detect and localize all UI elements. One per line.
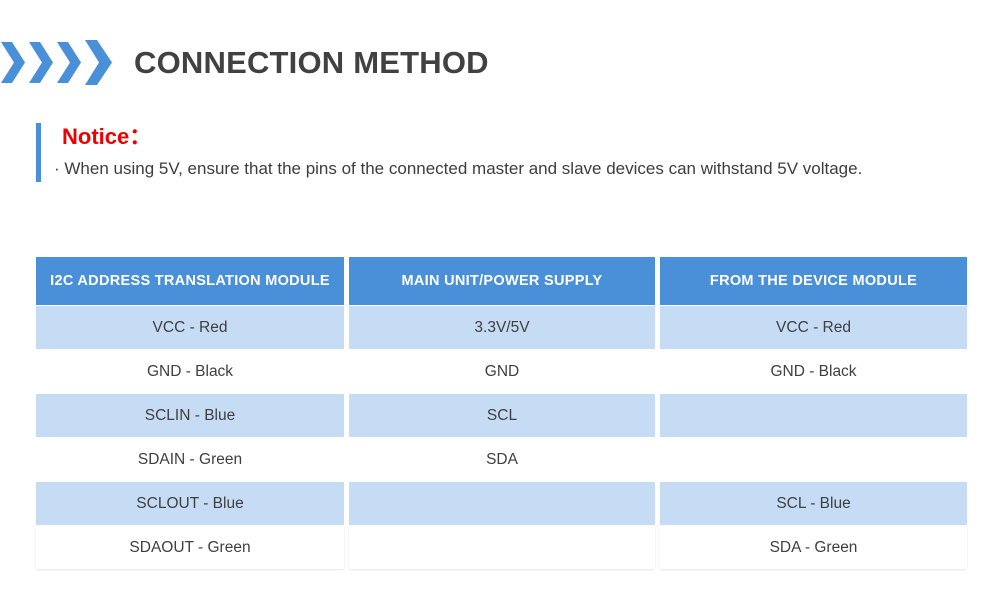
table-cell: SDA [349, 438, 655, 481]
notice-text: · When using 5V, ensure that the pins of… [54, 155, 966, 183]
chevron-right-icon [56, 41, 82, 84]
table-cell: SDAIN - Green [36, 438, 344, 481]
column-header-1: MAIN UNIT/POWER SUPPLY [349, 257, 655, 305]
column-header-0: I2C ADDRESS TRANSLATION MODULE [36, 257, 344, 305]
table-cell: GND - Black [36, 350, 344, 393]
page-title: CONNECTION METHOD [134, 47, 489, 78]
table-cell: SCLOUT - Blue [36, 482, 344, 525]
table-cell [660, 438, 967, 481]
table-cell: GND - Black [660, 350, 967, 393]
table-cell: SDAOUT - Green [36, 526, 344, 569]
chevron-right-icon [84, 39, 113, 86]
table-row: VCC - Red 3.3V/5V VCC - Red [36, 306, 962, 349]
table-cell: GND [349, 350, 655, 393]
table-row: SCLOUT - Blue SCL - Blue [36, 482, 962, 525]
table-cell: SCLIN - Blue [36, 394, 344, 437]
column-header-2: FROM THE DEVICE MODULE [660, 257, 967, 305]
page-header: CONNECTION METHOD [0, 33, 1000, 91]
table-cell: 3.3V/5V [349, 306, 655, 349]
table-row: SCLIN - Blue SCL [36, 394, 962, 437]
table-cell: SCL [349, 394, 655, 437]
notice-label: Notice： [62, 123, 966, 151]
table-cell [660, 394, 967, 437]
table-cell [349, 482, 655, 525]
table-row: SDAIN - Green SDA [36, 438, 962, 481]
chevron-right-icon [28, 41, 54, 84]
notice-block: Notice： · When using 5V, ensure that the… [36, 123, 966, 182]
table-cell: VCC - Red [36, 306, 344, 349]
table-cell: SCL - Blue [660, 482, 967, 525]
connection-table: I2C ADDRESS TRANSLATION MODULE MAIN UNIT… [36, 257, 962, 570]
table-cell: VCC - Red [660, 306, 967, 349]
chevron-group [0, 40, 115, 84]
table-header-row: I2C ADDRESS TRANSLATION MODULE MAIN UNIT… [36, 257, 962, 305]
table-cell: SDA - Green [660, 526, 967, 569]
table-row: SDAOUT - Green SDA - Green [36, 526, 962, 569]
table-row: GND - Black GND GND - Black [36, 350, 962, 393]
chevron-right-icon [0, 41, 26, 84]
table-cell [349, 526, 655, 569]
